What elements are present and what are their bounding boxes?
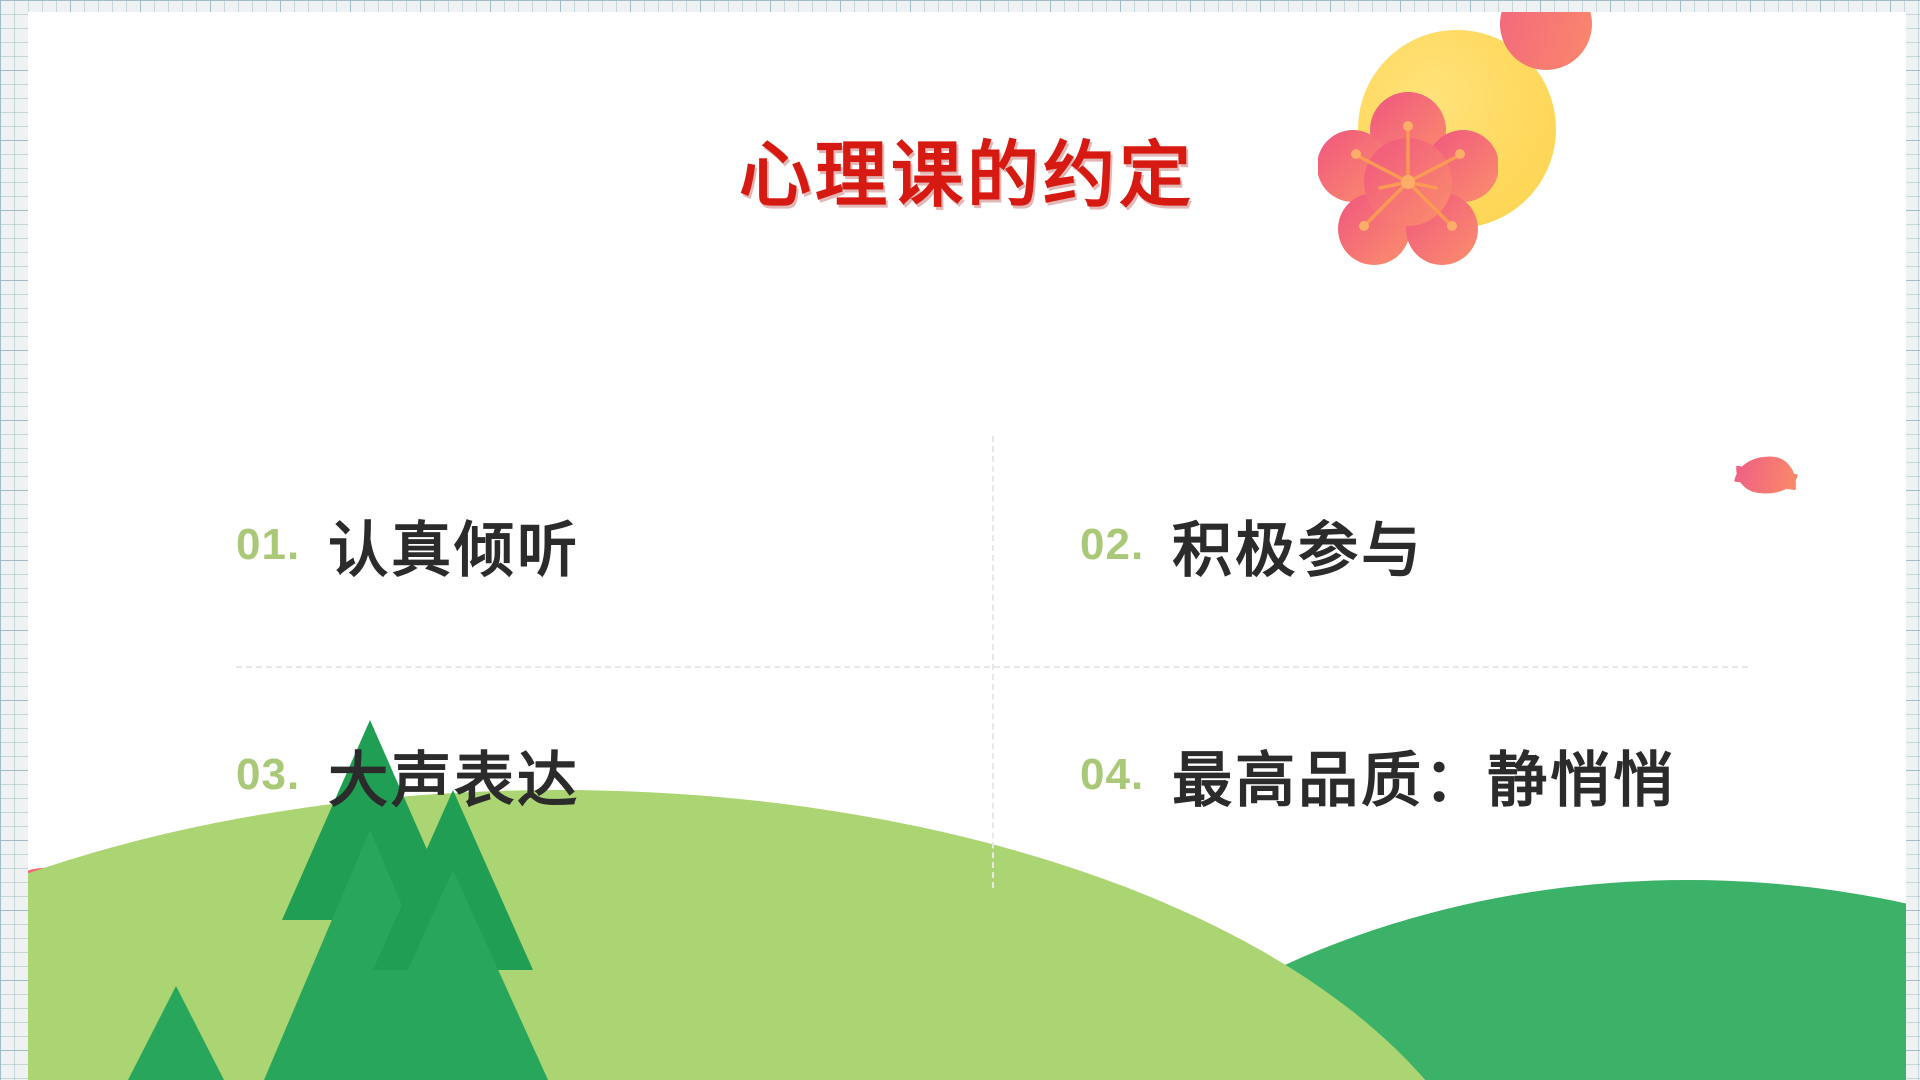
- promise-label: 最高品质：静悄悄: [1172, 732, 1676, 819]
- promise-item-04[interactable]: 04. 最高品质：静悄悄: [988, 660, 1768, 890]
- promise-number: 02.: [1080, 520, 1144, 570]
- presentation-slide: 心理课的约定 01. 认真倾听 02. 积极参与 03. 大声表达 04. 最高…: [0, 0, 1920, 1080]
- promise-number: 03.: [236, 750, 300, 800]
- petal-shape-icon: [1484, 12, 1608, 86]
- promise-number: 01.: [236, 520, 300, 570]
- grass-hill-dark: [908, 880, 1906, 1080]
- page-title: 心理课的约定: [28, 116, 1906, 221]
- promise-label: 认真倾听: [328, 502, 580, 589]
- promise-number: 04.: [1080, 750, 1144, 800]
- promise-item-03[interactable]: 03. 大声表达: [208, 660, 988, 890]
- promise-label: 积极参与: [1172, 502, 1424, 589]
- slide-canvas: 心理课的约定 01. 认真倾听 02. 积极参与 03. 大声表达 04. 最高…: [28, 12, 1906, 1080]
- promise-grid: 01. 认真倾听 02. 积极参与 03. 大声表达 04. 最高品质：静悄悄: [208, 430, 1768, 890]
- promise-label: 大声表达: [328, 732, 580, 819]
- petal-shape-icon: [28, 857, 108, 977]
- promise-item-02[interactable]: 02. 积极参与: [988, 430, 1768, 660]
- promise-item-01[interactable]: 01. 认真倾听: [208, 430, 988, 660]
